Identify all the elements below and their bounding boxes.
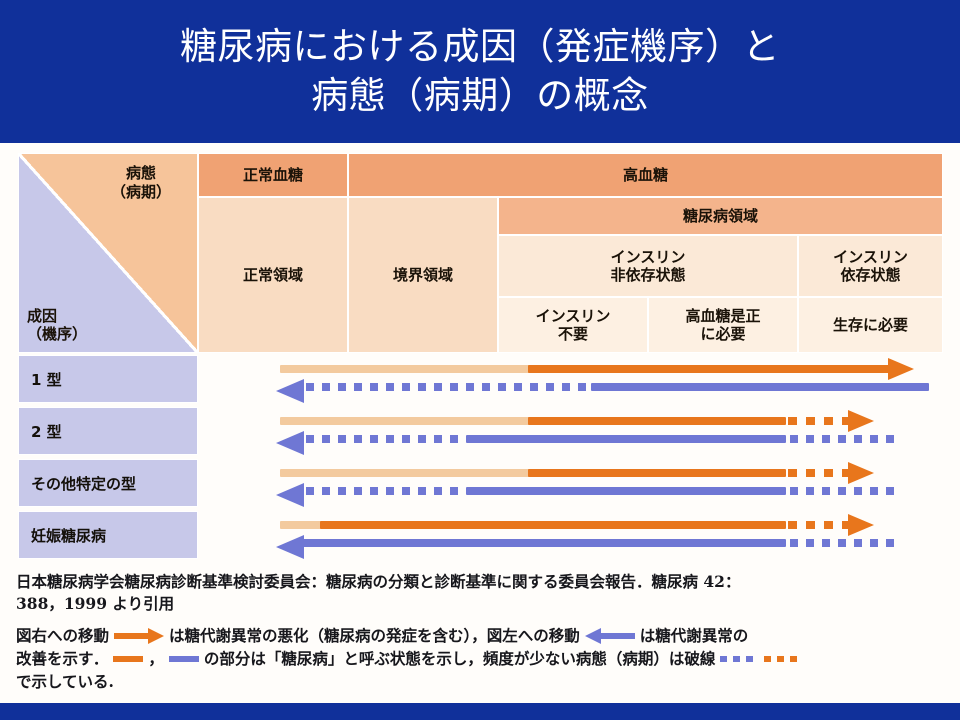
- corner-bottom-label: 成因 （機序）: [27, 307, 131, 345]
- legend-text-right-move: 図右への移動: [16, 624, 109, 647]
- title-line-2: 病態（病期）の概念: [311, 74, 649, 117]
- bottom-bar: [0, 703, 960, 720]
- backward-arrowhead-icon: [276, 483, 304, 507]
- arrow-track-other-specific: [198, 459, 943, 507]
- slide-root: 糖尿病における成因（発症機序）と病態（病期）の概念 病態 （病期） 成因 （機序…: [0, 0, 960, 720]
- backward-arrow-solid-segment: [302, 539, 786, 547]
- table-row: 妊娠糖尿病: [18, 511, 943, 559]
- row-label-other-specific: その他特定の型: [18, 459, 198, 507]
- table-row: 1 型: [18, 355, 943, 403]
- title-banner: 糖尿病における成因（発症機序）と病態（病期）の概念: [0, 0, 960, 143]
- backward-arrow-solid-segment: [466, 435, 786, 443]
- stage-col-insulin-independent: インスリン 非依存状態: [498, 235, 798, 297]
- backward-arrowhead-icon: [276, 379, 304, 403]
- legend-text-improvement: は糖代謝異常の: [640, 624, 749, 647]
- forward-arrowhead-icon: [848, 462, 874, 484]
- stage-col-normal: 正常領域: [198, 197, 348, 353]
- legend-text-worsening: は糖代謝異常の悪化（糖尿病の発症を含む），図左への移動: [169, 624, 580, 647]
- forward-arrow-dashed-tail: [788, 521, 850, 529]
- footnotes: 日本糖尿病学会糖尿病診断基準検討委員会：糖尿病の分類と診断基準に関する委員会報告…: [16, 571, 951, 694]
- header-normoglycemia: 正常血糖: [198, 153, 348, 197]
- header-hyperglycemia: 高血糖: [348, 153, 943, 197]
- title-line-1: 糖尿病における成因（発症機序）と: [180, 25, 780, 68]
- stage-col-borderline: 境界領域: [348, 197, 498, 353]
- row-label-gestational: 妊娠糖尿病: [18, 511, 198, 559]
- forward-arrow-light-segment: [280, 521, 322, 529]
- forward-arrow-dark-segment: [320, 521, 786, 529]
- forward-arrow-dashed-tail: [788, 469, 850, 477]
- backward-arrowhead-icon: [276, 535, 304, 559]
- treatment-insulin-for-control: 高血糖是正 に必要: [648, 297, 798, 353]
- corner-cell: 病態 （病期） 成因 （機序）: [18, 153, 198, 353]
- backward-arrow-solid-segment: [466, 487, 786, 495]
- figure-area: 病態 （病期） 成因 （機序） 正常血糖 高血糖 糖尿病領域 正常領域 境界領域…: [0, 143, 960, 703]
- forward-arrowhead-icon: [848, 410, 874, 432]
- citation-line-1: 日本糖尿病学会糖尿病診断基準検討委員会：糖尿病の分類と診断基準に関する委員会報告…: [16, 571, 951, 593]
- legend-blue-dashed-icon: [720, 656, 754, 662]
- forward-arrow-dark-segment: [528, 469, 786, 477]
- forward-arrowhead-icon: [848, 514, 874, 536]
- legend-left-arrow-icon: [585, 628, 635, 644]
- backward-arrow-dashed-segment: [306, 435, 466, 443]
- forward-arrow-light-segment: [280, 365, 530, 373]
- forward-arrow-light-segment: [280, 417, 530, 425]
- backward-arrow-dashed-tail: [790, 539, 898, 547]
- arrow-track-type1: [198, 355, 943, 403]
- backward-arrow-dashed-segment: [306, 383, 591, 391]
- legend-line-1: 図右への移動 は糖代謝異常の悪化（糖尿病の発症を含む），図左への移動 は糖代謝異…: [16, 624, 951, 647]
- legend-blue-bar-icon: [169, 656, 199, 662]
- forward-arrow-dark-segment: [528, 417, 786, 425]
- arrow-track-gestational: [198, 511, 943, 559]
- row-label-type2: 2 型: [18, 407, 198, 455]
- forward-arrow-light-segment: [280, 469, 530, 477]
- treatment-insulin-for-survival: 生存に必要: [798, 297, 943, 353]
- header-diabetes-region: 糖尿病領域: [498, 197, 943, 235]
- forward-arrow-dashed-tail: [788, 417, 850, 425]
- forward-arrowhead-icon: [888, 358, 914, 380]
- legend-line-3: で示している.: [16, 670, 951, 693]
- legend-comma: ，: [148, 647, 164, 670]
- table-row: 2 型: [18, 407, 943, 455]
- legend-right-arrow-icon: [114, 628, 164, 644]
- treatment-insulin-not-needed: インスリン 不要: [498, 297, 648, 353]
- legend-orange-dashed-icon: [764, 656, 798, 662]
- arrow-track-type2: [198, 407, 943, 455]
- page-title: 糖尿病における成因（発症機序）と病態（病期）の概念: [180, 23, 780, 119]
- legend-text-shown-by: で示している.: [16, 670, 114, 693]
- backward-arrow-dashed-tail: [790, 435, 898, 443]
- classification-table-header: 病態 （病期） 成因 （機序） 正常血糖 高血糖 糖尿病領域 正常領域 境界領域…: [18, 153, 943, 353]
- legend-orange-bar-icon: [113, 656, 143, 662]
- forward-arrow-dark-segment: [528, 365, 890, 373]
- legend-text-improve-shown: 改善を示す．: [16, 647, 108, 670]
- legend-text-diabetes-state: の部分は「糖尿病」と呼ぶ状態を示し，頻度が少ない病態（病期）は破線: [204, 647, 716, 670]
- table-row: その他特定の型: [18, 459, 943, 507]
- backward-arrowhead-icon: [276, 431, 304, 455]
- legend: 図右への移動 は糖代謝異常の悪化（糖尿病の発症を含む），図左への移動 は糖代謝異…: [16, 624, 951, 694]
- row-label-type1: 1 型: [18, 355, 198, 403]
- citation-line-2: 388，1999 より引用: [16, 593, 951, 615]
- backward-arrow-dashed-tail: [790, 487, 898, 495]
- arrow-rows: 1 型 2 型: [18, 355, 943, 563]
- corner-top-label: 病態 （病期）: [93, 164, 189, 202]
- stage-col-insulin-dependent: インスリン 依存状態: [798, 235, 943, 297]
- legend-line-2: 改善を示す． ， の部分は「糖尿病」と呼ぶ状態を示し，頻度が少ない病態（病期）は…: [16, 647, 951, 670]
- backward-arrow-dashed-segment: [306, 487, 466, 495]
- backward-arrow-solid-segment: [591, 383, 929, 391]
